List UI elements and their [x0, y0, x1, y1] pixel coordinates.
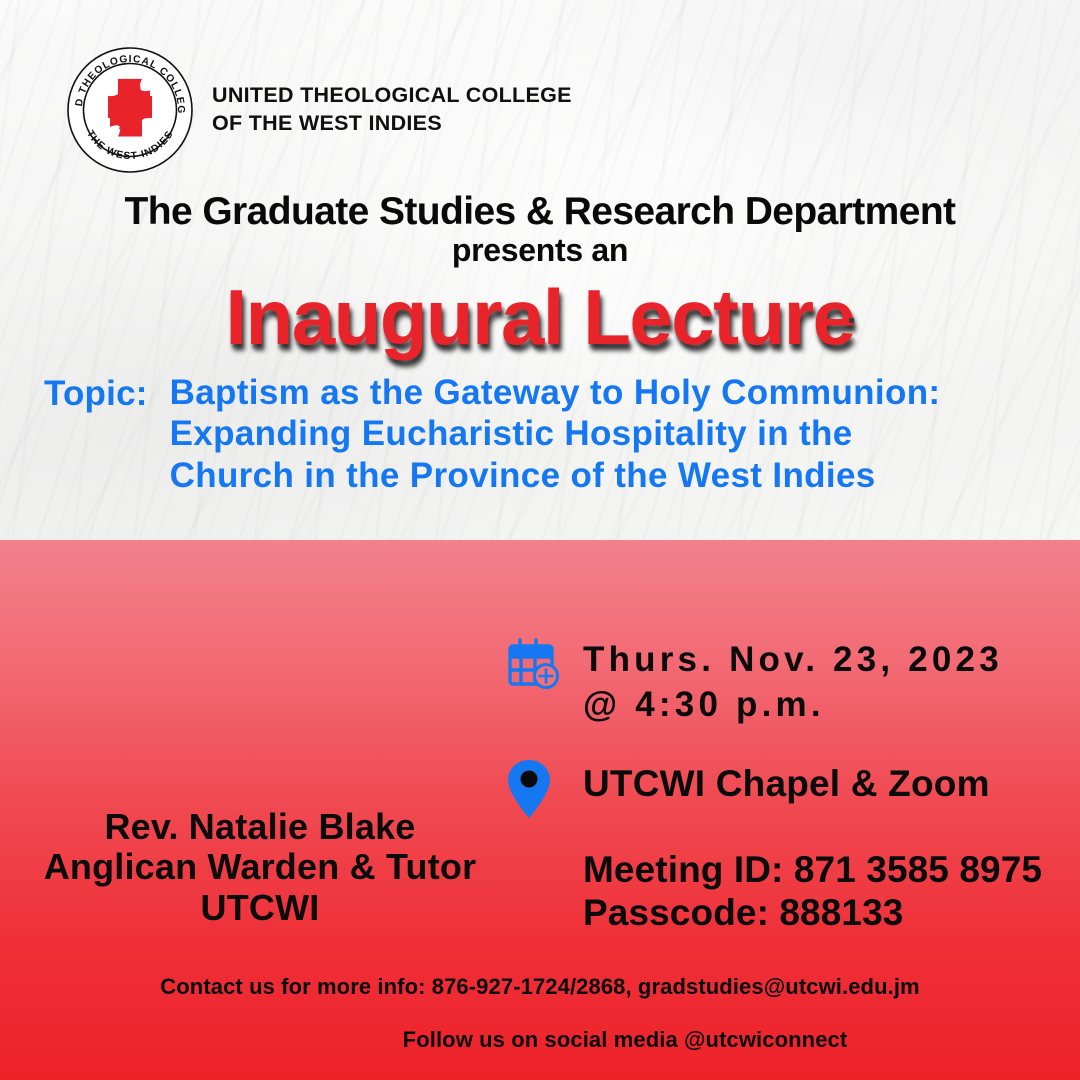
- social-line: Follow us on social media @utcwiconnect: [0, 1028, 1080, 1053]
- footer: Contact us for more info: 876-927-1724/2…: [0, 975, 1080, 1052]
- event-flyer: UNITED THEOLOGICAL COLLEGE OF THE WEST I…: [0, 0, 1080, 1080]
- contact-line: Contact us for more info: 876-927-1724/2…: [0, 975, 1080, 1000]
- map-pin-icon: [505, 758, 565, 820]
- topic-label: Topic:: [44, 372, 148, 414]
- calendar-clock-icon: [505, 636, 565, 694]
- event-details: Thurs. Nov. 23, 2023 @ 4:30 p.m. UTCWI C…: [505, 636, 1065, 935]
- brand-header: UNITED THEOLOGICAL COLLEGE OF THE WEST I…: [66, 46, 572, 174]
- event-title: Inaugural Lecture: [0, 278, 1080, 356]
- department-line: The Graduate Studies & Research Departme…: [0, 192, 1080, 232]
- speaker-caption: Rev. Natalie Blake Anglican Warden & Tut…: [0, 807, 520, 928]
- date-time-text: Thurs. Nov. 23, 2023 @ 4:30 p.m.: [583, 638, 1003, 728]
- date-row: Thurs. Nov. 23, 2023 @ 4:30 p.m.: [505, 636, 1065, 728]
- headline-block: The Graduate Studies & Research Departme…: [0, 192, 1080, 356]
- utcwi-seal-logo: UNITED THEOLOGICAL COLLEGE OF THE WEST I…: [66, 46, 194, 174]
- title-trailing-dot: [849, 318, 854, 323]
- organization-name: UNITED THEOLOGICAL COLLEGE OF THE WEST I…: [212, 82, 572, 137]
- venue-text: UTCWI Chapel & Zoom: [583, 762, 990, 806]
- zoom-meeting-info: Meeting ID: 871 3585 8975 Passcode: 8881…: [583, 848, 1065, 935]
- venue-row: UTCWI Chapel & Zoom: [505, 758, 1065, 820]
- topic-text: Baptism as the Gateway to Holy Communion…: [170, 372, 941, 496]
- presents-line: presents an: [0, 232, 1080, 270]
- topic-block: Topic: Baptism as the Gateway to Holy Co…: [44, 372, 1044, 496]
- speaker-photo: [56, 490, 456, 835]
